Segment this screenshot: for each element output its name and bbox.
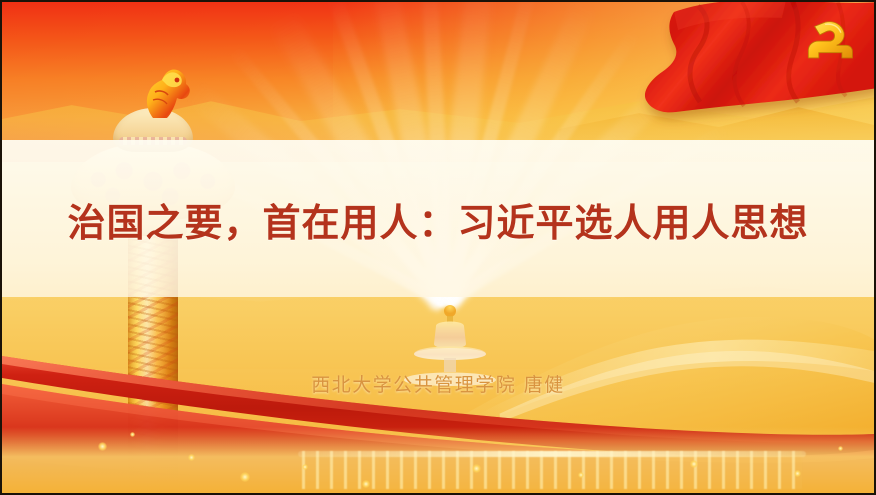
sparkle-particle <box>794 470 801 477</box>
sparkle-particle <box>362 480 370 488</box>
sparkle-particle <box>472 464 481 473</box>
party-flag-icon <box>616 0 876 132</box>
sparkle-particle <box>240 472 250 482</box>
sparkle-particle <box>130 432 135 437</box>
huabiao-beast-icon <box>131 62 193 120</box>
slide-subtitle: 西北大学公共管理学院 唐健 <box>2 370 874 397</box>
slide-title: 治国之要，首在用人：习近平选人用人思想 <box>2 192 874 247</box>
sparkle-particle <box>188 454 195 461</box>
sparkle-particle <box>98 442 107 451</box>
sparkle-particle <box>578 472 584 478</box>
presentation-slide: 治国之要，首在用人：习近平选人用人思想 西北大学公共管理学院 唐健 <box>0 0 876 495</box>
sparkle-particle <box>690 460 698 468</box>
sparkle-particle <box>838 446 843 451</box>
sparkle-particle <box>302 464 308 470</box>
